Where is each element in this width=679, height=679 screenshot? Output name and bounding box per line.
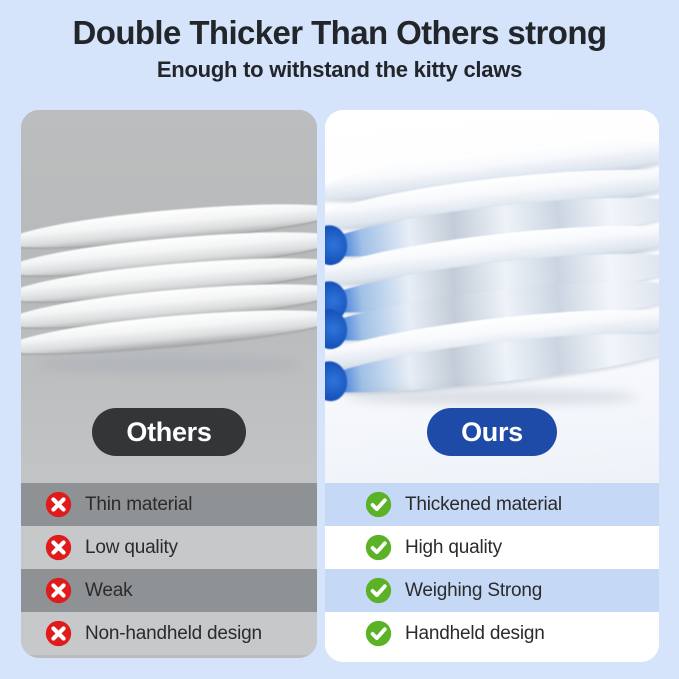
cross-icon <box>45 534 72 561</box>
cross-icon <box>45 491 72 518</box>
page-title: Double Thicker Than Others strong <box>0 14 679 52</box>
check-icon <box>365 620 392 647</box>
list-item: Handheld design <box>325 612 659 655</box>
list-item-label: Weak <box>85 580 132 602</box>
others-feature-list: Thin material Low quality <box>21 483 317 655</box>
list-item: Thickened material <box>325 483 659 526</box>
check-icon <box>365 491 392 518</box>
ours-feature-list: Thickened material High quality <box>325 483 659 655</box>
list-item: Weighing Strong <box>325 569 659 612</box>
comparison-section: Others Thin material <box>0 110 679 665</box>
check-icon <box>365 577 392 604</box>
list-item: Low quality <box>21 526 317 569</box>
page-subtitle: Enough to withstand the kitty claws <box>0 57 679 83</box>
others-pill-zone: Others <box>21 408 317 456</box>
list-item-label: Thickened material <box>405 494 562 516</box>
ours-pill-zone: Ours <box>325 408 659 456</box>
header: Double Thicker Than Others strong Enough… <box>0 0 679 83</box>
others-label-pill: Others <box>92 408 245 456</box>
list-item-label: Handheld design <box>405 623 545 645</box>
list-item: Weak <box>21 569 317 612</box>
list-item-label: High quality <box>405 537 502 559</box>
ours-label-pill: Ours <box>427 408 557 456</box>
cross-icon <box>45 620 72 647</box>
check-icon <box>365 534 392 561</box>
list-item: High quality <box>325 526 659 569</box>
cross-icon <box>45 577 72 604</box>
list-item-label: Low quality <box>85 537 178 559</box>
list-item: Thin material <box>21 483 317 526</box>
others-panel: Others Thin material <box>21 110 317 658</box>
list-item: Non-handheld design <box>21 612 317 655</box>
ours-panel: Ours Thickened material <box>325 110 659 662</box>
list-item-label: Thin material <box>85 494 192 516</box>
list-item-label: Weighing Strong <box>405 580 542 602</box>
list-item-label: Non-handheld design <box>85 623 262 645</box>
